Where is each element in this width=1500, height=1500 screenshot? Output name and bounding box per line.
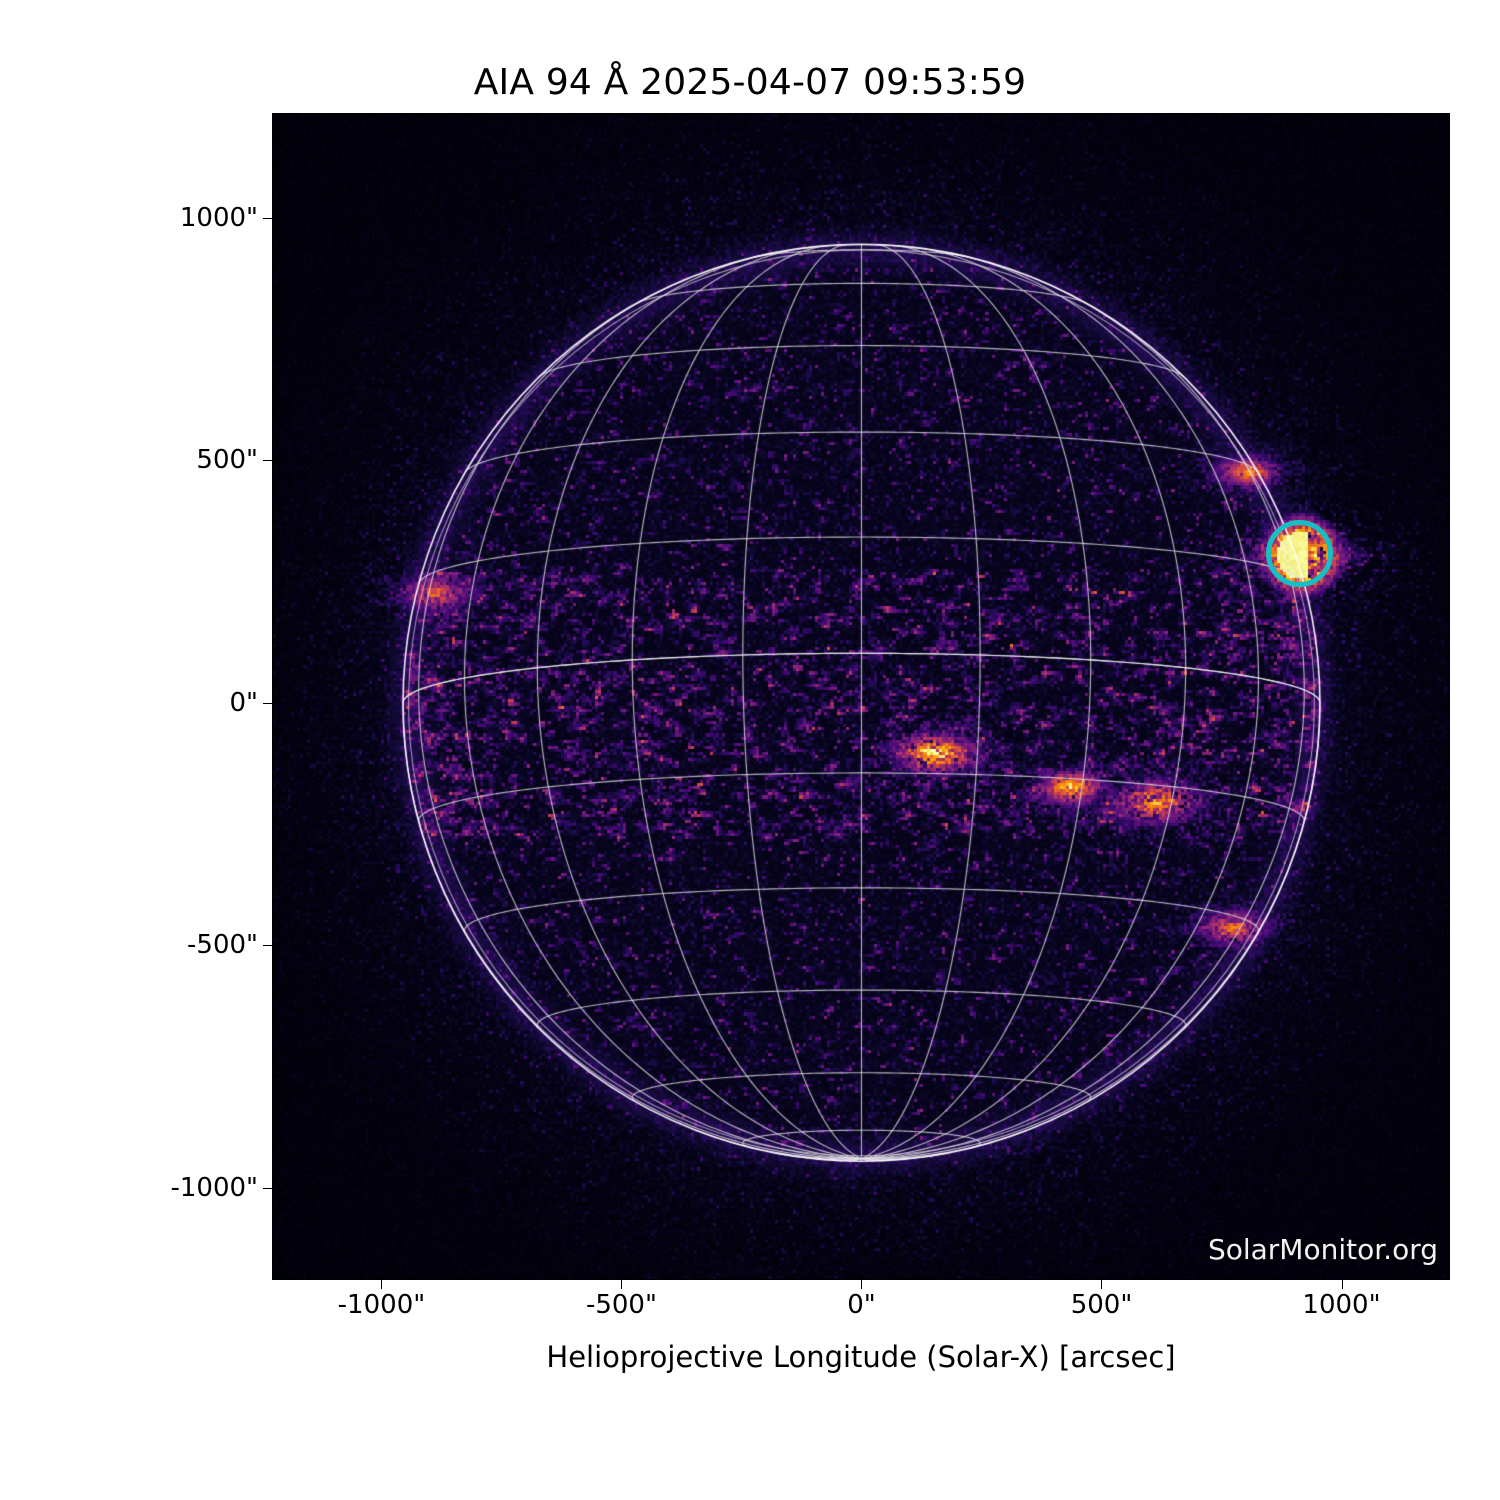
solar-disk-image (272, 113, 1450, 1280)
watermark-label: SolarMonitor.org (1208, 1233, 1438, 1266)
y-tick-label: 1000" (58, 203, 258, 233)
y-tick-label: -1000" (58, 1173, 258, 1203)
y-tick-mark (263, 460, 272, 461)
x-tick-mark (1342, 1280, 1343, 1289)
x-tick-label: 1000" (1302, 1290, 1380, 1320)
image-plot-area[interactable]: SolarMonitor.org (272, 113, 1450, 1280)
y-tick-mark (263, 1188, 272, 1189)
y-tick-mark (263, 945, 272, 946)
x-tick-mark (1101, 1280, 1102, 1289)
page-title: AIA 94 Å 2025-04-07 09:53:59 (0, 62, 1500, 103)
x-tick-label: 0" (847, 1290, 876, 1320)
solar-image-figure: AIA 94 Å 2025-04-07 09:53:59 SolarMonito… (0, 0, 1500, 1500)
x-tick-mark (381, 1280, 382, 1289)
flare-region-highlight-circle (1266, 520, 1333, 587)
x-tick-mark (861, 1280, 862, 1289)
y-tick-mark (263, 218, 272, 219)
x-tick-label: 500" (1071, 1290, 1133, 1320)
x-axis-label: Helioprojective Longitude (Solar-X) [arc… (272, 1340, 1450, 1374)
y-tick-mark (263, 703, 272, 704)
y-tick-label: 0" (58, 688, 258, 718)
x-tick-label: -1000" (338, 1290, 426, 1320)
y-tick-label: 500" (58, 445, 258, 475)
y-tick-label: -500" (58, 930, 258, 960)
x-tick-mark (621, 1280, 622, 1289)
x-tick-label: -500" (586, 1290, 657, 1320)
